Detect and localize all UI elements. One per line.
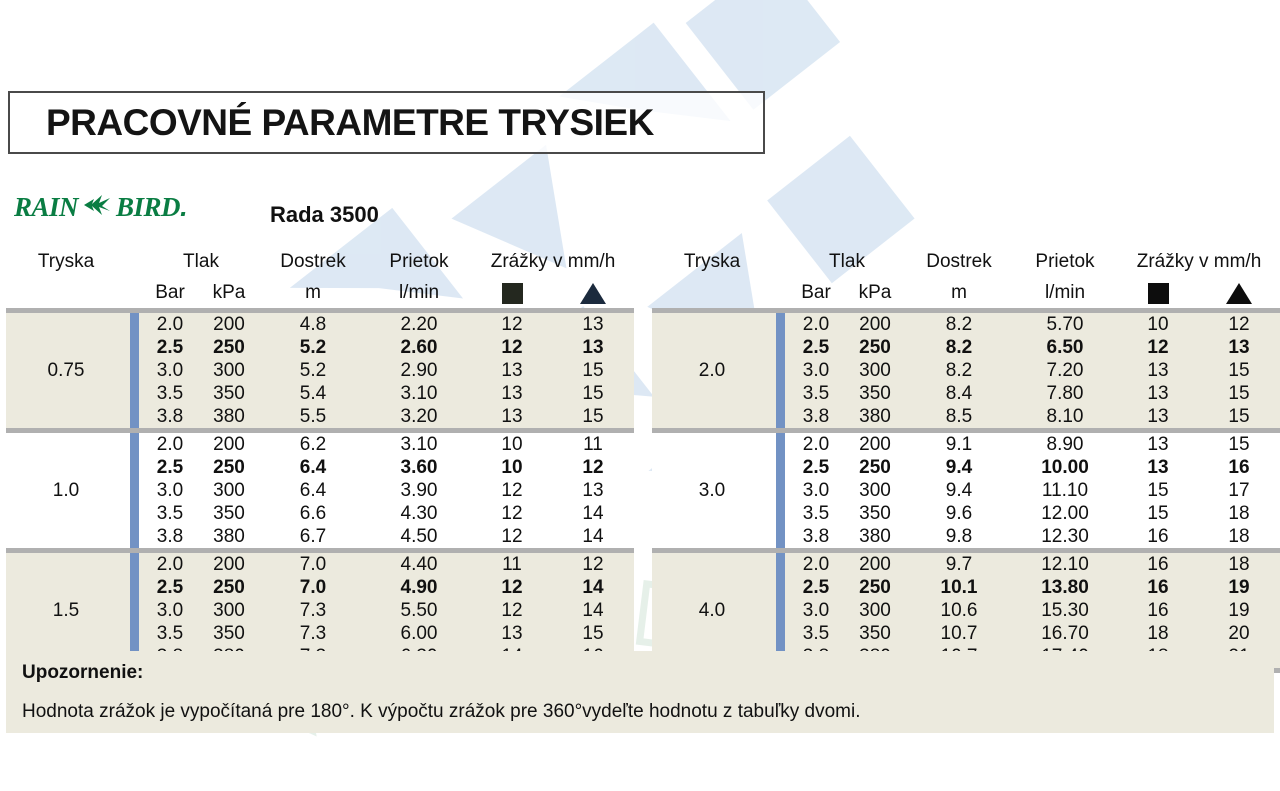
cell-kpa: 250: [198, 336, 260, 359]
page-title: PRACOVNÉ PARAMETRE TRYSIEK: [10, 102, 654, 144]
header-pressure: Tlak: [142, 246, 260, 278]
logo-word-bird: BIRD: [116, 194, 180, 221]
cell-bar: 3.0: [788, 359, 844, 382]
cell-flow: 3.10: [366, 433, 472, 456]
cell-bar: 2.0: [142, 433, 198, 456]
cell-kpa: 350: [844, 502, 906, 525]
cell-flow: 5.50: [366, 599, 472, 622]
square-pattern-icon: [1118, 278, 1198, 308]
cell-radius: 9.1: [906, 433, 1012, 456]
nozzle-block: 3.02.02009.18.9013152.52509.410.0013163.…: [652, 433, 1280, 548]
blue-separator-bar: [126, 313, 142, 428]
cell-radius: 9.8: [906, 525, 1012, 548]
logo-period: .: [180, 192, 188, 223]
cell-flow: 4.30: [366, 502, 472, 525]
cell-radius: 5.4: [260, 382, 366, 405]
datasheet-page: PRACOVNÉ PARAMETRE TRYSIEK RAIN BIRD . R…: [0, 0, 1280, 791]
cell-radius: 10.6: [906, 599, 1012, 622]
cell-radius: 9.7: [906, 553, 1012, 576]
header-flow: Prietok: [1012, 246, 1118, 278]
cell-kpa: 200: [198, 553, 260, 576]
cell-tri: 15: [1198, 405, 1280, 428]
cell-radius: 8.2: [906, 313, 1012, 336]
cell-flow: 2.60: [366, 336, 472, 359]
cell-radius: 6.7: [260, 525, 366, 548]
cell-kpa: 300: [844, 479, 906, 502]
header-unit-bar: Bar: [788, 278, 844, 308]
cell-bar: 2.5: [788, 336, 844, 359]
cell-radius: 6.4: [260, 479, 366, 502]
cell-radius: 5.2: [260, 336, 366, 359]
header-unit-bar: Bar: [142, 278, 198, 308]
cell-flow: 7.20: [1012, 359, 1118, 382]
cell-flow: 2.20: [366, 313, 472, 336]
nozzle-label: 2.0: [652, 313, 772, 428]
cell-flow: 8.10: [1012, 405, 1118, 428]
cell-radius: 8.5: [906, 405, 1012, 428]
cell-sq: 16: [1118, 599, 1198, 622]
cell-flow: 6.50: [1012, 336, 1118, 359]
cell-radius: 8.2: [906, 359, 1012, 382]
cell-tri: 19: [1198, 576, 1280, 599]
cell-kpa: 350: [198, 502, 260, 525]
cell-bar: 3.5: [142, 622, 198, 645]
cell-radius: 6.6: [260, 502, 366, 525]
cell-sq: 10: [472, 433, 552, 456]
cell-tri: 15: [552, 359, 634, 382]
blue-separator-bar: [772, 313, 788, 428]
series-label: Rada 3500: [270, 202, 379, 228]
cell-flow: 3.10: [366, 382, 472, 405]
header-radius: Dostrek: [260, 246, 366, 278]
cell-bar: 2.5: [142, 576, 198, 599]
header-row-main: Tryska Tlak Dostrek Prietok Zrážky v mm/…: [6, 246, 634, 278]
triangle-pattern-icon: [1198, 278, 1280, 308]
header-unit-blank: [6, 278, 126, 308]
cell-tri: 18: [1198, 502, 1280, 525]
table-row: 1.52.02007.04.401112: [6, 553, 634, 576]
cell-flow: 12.00: [1012, 502, 1118, 525]
cell-kpa: 250: [198, 456, 260, 479]
cell-kpa: 200: [198, 313, 260, 336]
cell-radius: 4.8: [260, 313, 366, 336]
note-title: Upozornenie:: [22, 662, 1274, 684]
cell-radius: 9.6: [906, 502, 1012, 525]
cell-sq: 12: [1118, 336, 1198, 359]
header-nozzle: Tryska: [652, 246, 772, 278]
cell-radius: 7.3: [260, 599, 366, 622]
nozzle-block: 1.02.02006.23.1010112.52506.43.6010123.0…: [6, 433, 634, 548]
cell-radius: 9.4: [906, 456, 1012, 479]
cell-flow: 8.90: [1012, 433, 1118, 456]
cell-sq: 12: [472, 479, 552, 502]
header-unit-radius: m: [906, 278, 1012, 308]
header-row-units: Bar kPa m l/min: [652, 278, 1280, 308]
cell-kpa: 250: [844, 336, 906, 359]
cell-kpa: 300: [198, 479, 260, 502]
cell-sq: 11: [472, 553, 552, 576]
cell-kpa: 300: [198, 359, 260, 382]
cell-tri: 15: [1198, 359, 1280, 382]
cell-kpa: 300: [844, 599, 906, 622]
cell-kpa: 250: [198, 576, 260, 599]
cell-sq: 16: [1118, 553, 1198, 576]
cell-flow: 12.30: [1012, 525, 1118, 548]
cell-flow: 11.10: [1012, 479, 1118, 502]
header-pressure: Tlak: [788, 246, 906, 278]
cell-kpa: 300: [844, 359, 906, 382]
cell-flow: 4.50: [366, 525, 472, 548]
cell-kpa: 380: [198, 405, 260, 428]
cell-bar: 2.0: [788, 313, 844, 336]
cell-tri: 13: [552, 479, 634, 502]
header-nozzle: Tryska: [6, 246, 126, 278]
cell-sq: 15: [1118, 479, 1198, 502]
cell-bar: 2.0: [142, 553, 198, 576]
header-flow: Prietok: [366, 246, 472, 278]
cell-sq: 12: [472, 336, 552, 359]
header-spacer-2: [772, 278, 788, 308]
spec-table-right: Tryska Tlak Dostrek Prietok Zrážky v mm/…: [652, 246, 1280, 673]
cell-tri: 16: [1198, 456, 1280, 479]
cell-kpa: 350: [844, 622, 906, 645]
cell-kpa: 200: [198, 433, 260, 456]
cell-kpa: 380: [844, 405, 906, 428]
cell-sq: 13: [472, 622, 552, 645]
header-precipitation: Zrážky v mm/h: [472, 246, 634, 278]
cell-sq: 12: [472, 525, 552, 548]
cell-tri: 15: [1198, 433, 1280, 456]
cell-tri: 20: [1198, 622, 1280, 645]
brand-row: RAIN BIRD . Rada 3500: [14, 190, 654, 234]
cell-sq: 13: [1118, 405, 1198, 428]
cell-bar: 3.5: [788, 502, 844, 525]
cell-tri: 12: [552, 456, 634, 479]
cell-bar: 3.8: [142, 525, 198, 548]
table-row: 1.02.02006.23.101011: [6, 433, 634, 456]
cell-kpa: 200: [844, 313, 906, 336]
header-unit-flow: l/min: [366, 278, 472, 308]
table-head-right: Tryska Tlak Dostrek Prietok Zrážky v mm/…: [652, 246, 1280, 308]
page-title-box: PRACOVNÉ PARAMETRE TRYSIEK: [8, 91, 765, 154]
cell-flow: 3.90: [366, 479, 472, 502]
header-unit-blank: [652, 278, 772, 308]
cell-kpa: 380: [844, 525, 906, 548]
cell-kpa: 200: [844, 553, 906, 576]
cell-tri: 13: [552, 313, 634, 336]
cell-kpa: 350: [198, 622, 260, 645]
cell-kpa: 250: [844, 456, 906, 479]
cell-tri: 14: [552, 502, 634, 525]
cell-tri: 14: [552, 576, 634, 599]
cell-bar: 3.5: [788, 622, 844, 645]
cell-sq: 12: [472, 599, 552, 622]
cell-bar: 3.5: [788, 382, 844, 405]
cell-tri: 11: [552, 433, 634, 456]
cell-bar: 2.0: [788, 553, 844, 576]
bird-icon: [82, 192, 112, 223]
cell-sq: 12: [472, 576, 552, 599]
cell-bar: 2.0: [788, 433, 844, 456]
triangle-pattern-icon: [552, 278, 634, 308]
cell-sq: 13: [472, 405, 552, 428]
cell-tri: 18: [1198, 525, 1280, 548]
nozzle-block: 0.752.02004.82.2012132.52505.22.6012133.…: [6, 313, 634, 428]
table-row: 2.02.02008.25.701012: [652, 313, 1280, 336]
cell-radius: 7.3: [260, 622, 366, 645]
cell-sq: 12: [472, 313, 552, 336]
cell-sq: 12: [472, 502, 552, 525]
cell-sq: 13: [472, 382, 552, 405]
spec-table-left-wrapper: Tryska Tlak Dostrek Prietok Zrážky v mm/…: [6, 246, 634, 673]
cell-bar: 3.5: [142, 382, 198, 405]
cell-flow: 7.80: [1012, 382, 1118, 405]
header-unit-kpa: kPa: [844, 278, 906, 308]
cell-kpa: 380: [198, 525, 260, 548]
cell-kpa: 200: [844, 433, 906, 456]
cell-flow: 16.70: [1012, 622, 1118, 645]
cell-sq: 18: [1118, 622, 1198, 645]
note-box: Upozornenie: Hodnota zrážok je vypočítan…: [6, 651, 1274, 733]
header-row-main: Tryska Tlak Dostrek Prietok Zrážky v mm/…: [652, 246, 1280, 278]
blue-separator-bar: [772, 433, 788, 548]
cell-tri: 14: [552, 525, 634, 548]
cell-tri: 15: [552, 622, 634, 645]
cell-radius: 5.5: [260, 405, 366, 428]
cell-bar: 3.0: [142, 359, 198, 382]
nozzle-label: 3.0: [652, 433, 772, 548]
cell-tri: 13: [552, 336, 634, 359]
cell-bar: 2.5: [788, 576, 844, 599]
cell-bar: 3.8: [788, 525, 844, 548]
cell-flow: 15.30: [1012, 599, 1118, 622]
cell-kpa: 350: [844, 382, 906, 405]
cell-sq: 16: [1118, 525, 1198, 548]
cell-tri: 17: [1198, 479, 1280, 502]
cell-sq: 13: [472, 359, 552, 382]
header-unit-kpa: kPa: [198, 278, 260, 308]
cell-bar: 3.0: [788, 479, 844, 502]
cell-kpa: 300: [198, 599, 260, 622]
cell-flow: 12.10: [1012, 553, 1118, 576]
cell-radius: 7.0: [260, 553, 366, 576]
header-unit-radius: m: [260, 278, 366, 308]
cell-flow: 2.90: [366, 359, 472, 382]
cell-sq: 13: [1118, 456, 1198, 479]
cell-sq: 13: [1118, 359, 1198, 382]
header-precipitation: Zrážky v mm/h: [1118, 246, 1280, 278]
cell-tri: 15: [1198, 382, 1280, 405]
cell-tri: 12: [552, 553, 634, 576]
cell-flow: 10.00: [1012, 456, 1118, 479]
cell-radius: 7.0: [260, 576, 366, 599]
cell-sq: 13: [1118, 382, 1198, 405]
cell-radius: 6.2: [260, 433, 366, 456]
cell-radius: 10.7: [906, 622, 1012, 645]
cell-sq: 10: [472, 456, 552, 479]
table-row: 0.752.02004.82.201213: [6, 313, 634, 336]
header-spacer-2: [126, 278, 142, 308]
cell-bar: 3.0: [142, 599, 198, 622]
spec-table-right-wrapper: Tryska Tlak Dostrek Prietok Zrážky v mm/…: [652, 246, 1280, 673]
cell-flow: 5.70: [1012, 313, 1118, 336]
cell-flow: 13.80: [1012, 576, 1118, 599]
header-spacer: [772, 246, 788, 278]
cell-tri: 15: [552, 405, 634, 428]
blue-separator-bar: [126, 433, 142, 548]
cell-flow: 4.90: [366, 576, 472, 599]
cell-tri: 14: [552, 599, 634, 622]
cell-tri: 15: [552, 382, 634, 405]
rain-bird-logo: RAIN BIRD .: [14, 190, 188, 224]
header-row-units: Bar kPa m l/min: [6, 278, 634, 308]
cell-sq: 15: [1118, 502, 1198, 525]
cell-bar: 3.5: [142, 502, 198, 525]
cell-flow: 3.60: [366, 456, 472, 479]
table-row: 4.02.02009.712.101618: [652, 553, 1280, 576]
cell-tri: 19: [1198, 599, 1280, 622]
cell-bar: 3.0: [142, 479, 198, 502]
cell-radius: 9.4: [906, 479, 1012, 502]
cell-flow: 4.40: [366, 553, 472, 576]
cell-sq: 13: [1118, 433, 1198, 456]
square-pattern-icon: [472, 278, 552, 308]
logo-word-rain: RAIN: [14, 194, 78, 221]
cell-radius: 8.2: [906, 336, 1012, 359]
nozzle-block: 2.02.02008.25.7010122.52508.26.5012133.0…: [652, 313, 1280, 428]
cell-bar: 2.5: [788, 456, 844, 479]
cell-sq: 16: [1118, 576, 1198, 599]
cell-radius: 8.4: [906, 382, 1012, 405]
cell-sq: 10: [1118, 313, 1198, 336]
header-unit-flow: l/min: [1012, 278, 1118, 308]
cell-bar: 2.5: [142, 336, 198, 359]
cell-radius: 5.2: [260, 359, 366, 382]
spec-table-left: Tryska Tlak Dostrek Prietok Zrážky v mm/…: [6, 246, 634, 673]
table-head-left: Tryska Tlak Dostrek Prietok Zrážky v mm/…: [6, 246, 634, 308]
cell-bar: 3.8: [142, 405, 198, 428]
header-spacer: [126, 246, 142, 278]
cell-bar: 2.0: [142, 313, 198, 336]
cell-bar: 2.5: [142, 456, 198, 479]
table-row: 3.02.02009.18.901315: [652, 433, 1280, 456]
cell-kpa: 350: [198, 382, 260, 405]
cell-flow: 3.20: [366, 405, 472, 428]
cell-tri: 18: [1198, 553, 1280, 576]
cell-flow: 6.00: [366, 622, 472, 645]
cell-radius: 6.4: [260, 456, 366, 479]
cell-tri: 12: [1198, 313, 1280, 336]
nozzle-label: 1.0: [6, 433, 126, 548]
header-radius: Dostrek: [906, 246, 1012, 278]
cell-radius: 10.1: [906, 576, 1012, 599]
nozzle-label: 0.75: [6, 313, 126, 428]
cell-tri: 13: [1198, 336, 1280, 359]
note-body: Hodnota zrážok je vypočítaná pre 180°. K…: [22, 701, 1274, 723]
cell-bar: 3.0: [788, 599, 844, 622]
cell-kpa: 250: [844, 576, 906, 599]
cell-bar: 3.8: [788, 405, 844, 428]
